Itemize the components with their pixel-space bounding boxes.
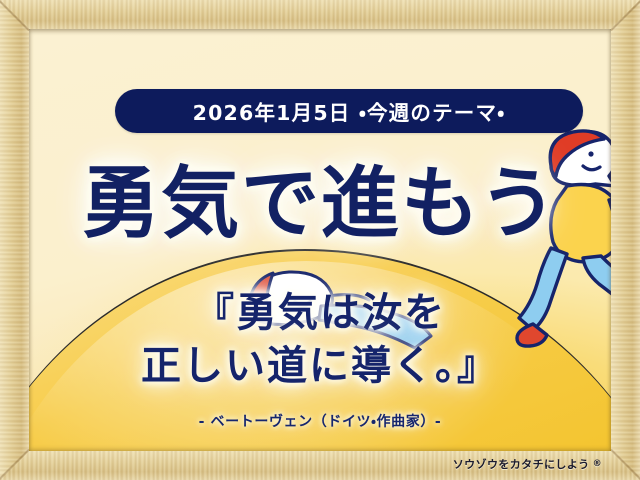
quote-container: 『勇気は汝を 正しい道に導く。』 [29, 287, 611, 393]
frame-top-rail [0, 0, 640, 29]
headline-text: 勇気で進もう [81, 165, 559, 243]
card-canvas: 2026年1月5日 ・今週のテーマ・ 勇気で進もう 『勇気は汝を 正しい道に導く… [29, 29, 611, 451]
frame-left-stile [0, 0, 29, 480]
headline-container: 勇気で進もう [29, 165, 611, 243]
attribution-text: - ベートーヴェン（ドイツ・作曲家）- [199, 411, 442, 431]
attribution-container: - ベートーヴェン（ドイツ・作曲家）- [29, 411, 611, 431]
frame-miter-top-right [610, 0, 640, 31]
quote-line-1: 『勇気は汝を [29, 287, 611, 340]
frame-miter-top-left [0, 0, 30, 31]
frame-right-stile [611, 0, 640, 480]
weekly-theme-card: 2026年1月5日 ・今週のテーマ・ 勇気で進もう 『勇気は汝を 正しい道に導く… [0, 0, 640, 480]
theme-banner: 2026年1月5日 ・今週のテーマ・ [115, 89, 583, 133]
frame-miter-bottom-right [610, 449, 640, 480]
brand-tagline: ソウゾウをカタチにしよう® [453, 456, 602, 472]
quote-line-2: 正しい道に導く。』 [29, 340, 611, 393]
banner-text: 2026年1月5日 ・今週のテーマ・ [193, 96, 506, 126]
registered-trademark-icon: ® [593, 459, 602, 469]
frame-miter-bottom-left [0, 449, 30, 480]
brand-tagline-text: ソウゾウをカタチにしよう [453, 458, 590, 471]
